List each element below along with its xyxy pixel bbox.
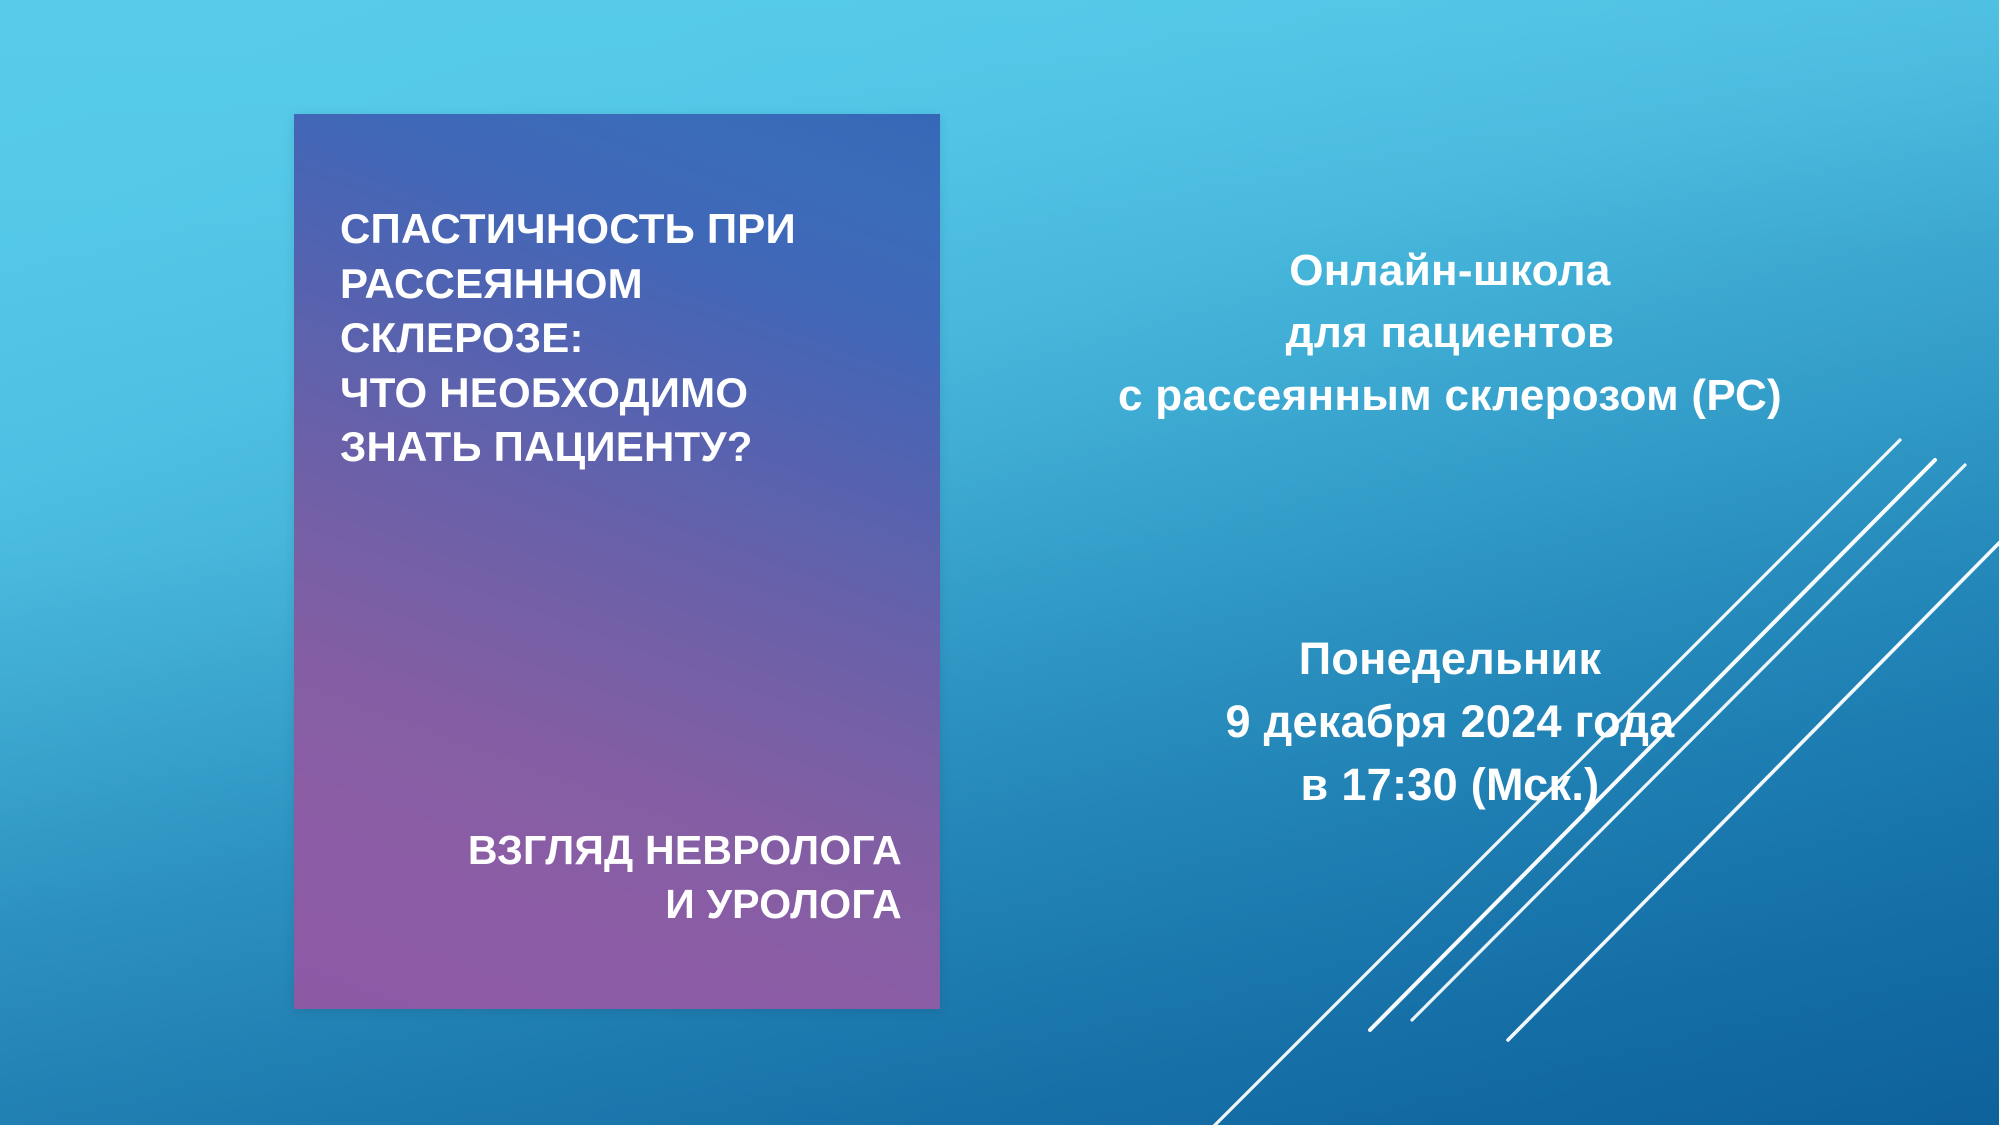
announcement-slide: СПАСТИЧНОСТЬ ПРИ РАССЕЯННОМ СКЛЕРОЗЕ: ЧТ… [0, 0, 1999, 1125]
poster-title-line-5: ЗНАТЬ ПАЦИЕНТУ? [340, 420, 920, 475]
poster-title: СПАСТИЧНОСТЬ ПРИ РАССЕЯННОМ СКЛЕРОЗЕ: ЧТ… [340, 202, 920, 475]
poster-subtitle: ВЗГЛЯД НЕВРОЛОГА И УРОЛОГА [468, 823, 902, 931]
event-schedule-time: в 17:30 (Мск.) [1010, 753, 1890, 816]
poster-subtitle-line-1: ВЗГЛЯД НЕВРОЛОГА [468, 823, 902, 877]
event-schedule-weekday: Понедельник [1010, 627, 1890, 690]
poster-title-line-4: ЧТО НЕОБХОДИМО [340, 366, 920, 421]
event-schedule: Понедельник 9 декабря 2024 года в 17:30 … [1010, 627, 1890, 816]
poster-subtitle-line-2: И УРОЛОГА [468, 877, 902, 931]
webinar-poster-cover: СПАСТИЧНОСТЬ ПРИ РАССЕЯННОМ СКЛЕРОЗЕ: ЧТ… [294, 114, 940, 1009]
announcement-text-column: Онлайн-школа для пациентов с рассеянным … [1010, 240, 1890, 816]
poster-title-line-3: СКЛЕРОЗЕ: [340, 311, 920, 366]
poster-title-line-1: СПАСТИЧНОСТЬ ПРИ [340, 202, 920, 257]
event-headline-line-3: с рассеянным склерозом (РС) [1010, 365, 1890, 427]
event-headline: Онлайн-школа для пациентов с рассеянным … [1010, 240, 1890, 427]
event-headline-line-2: для пациентов [1010, 302, 1890, 364]
event-schedule-date: 9 декабря 2024 года [1010, 690, 1890, 753]
event-headline-line-1: Онлайн-школа [1010, 240, 1890, 302]
poster-title-line-2: РАССЕЯННОМ [340, 257, 920, 312]
